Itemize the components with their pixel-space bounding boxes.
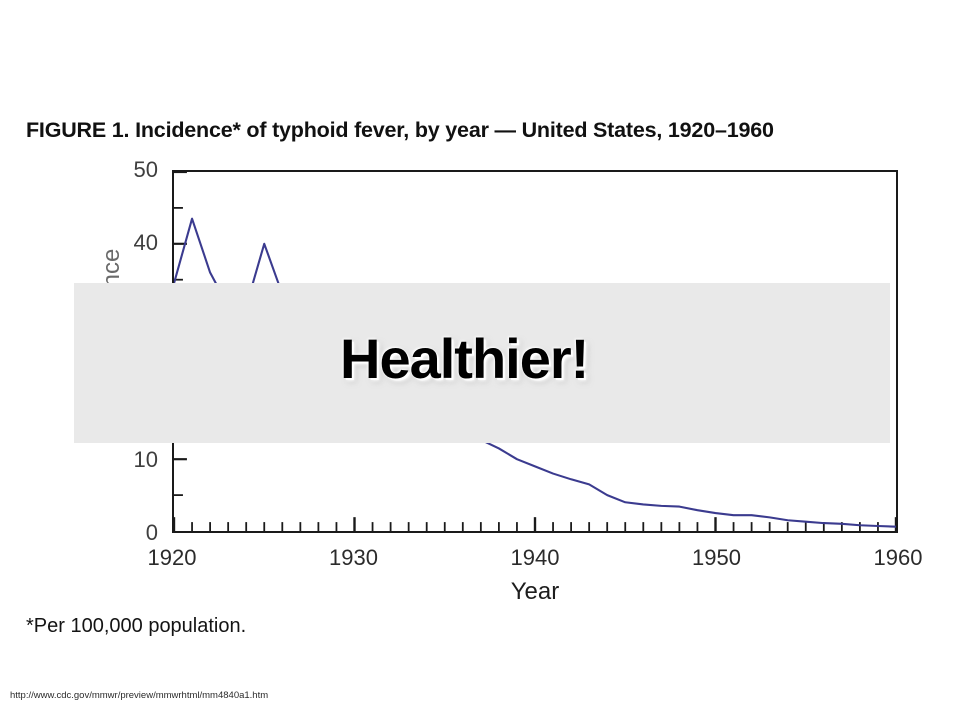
y-tick-label: 0 [146,522,158,544]
y-tick-label: 10 [134,449,158,471]
x-tick-label: 1940 [511,545,560,571]
x-axis-title: Year [172,578,898,606]
callout-healthier: Healthier! [340,326,588,391]
y-axis-title: Incidence [98,220,126,380]
y-tick-label: 20 [134,377,158,399]
x-tick-label: 1930 [329,545,378,571]
y-tick-label: 50 [134,159,158,181]
figure-footnote: *Per 100,000 population. [26,615,246,638]
x-axis-tick-labels: 19201930194019501960 [172,545,898,573]
x-tick-label: 1920 [148,545,197,571]
figure-title: FIGURE 1. Incidence* of typhoid fever, b… [26,118,926,143]
y-tick-label: 40 [134,232,158,254]
slide-canvas: FIGURE 1. Incidence* of typhoid fever, b… [0,0,960,720]
source-url: http://www.cdc.gov/mmwr/preview/mmwrhtml… [10,690,268,701]
x-tick-label: 1960 [874,545,923,571]
x-tick-label: 1950 [692,545,741,571]
y-tick-label: 30 [134,304,158,326]
